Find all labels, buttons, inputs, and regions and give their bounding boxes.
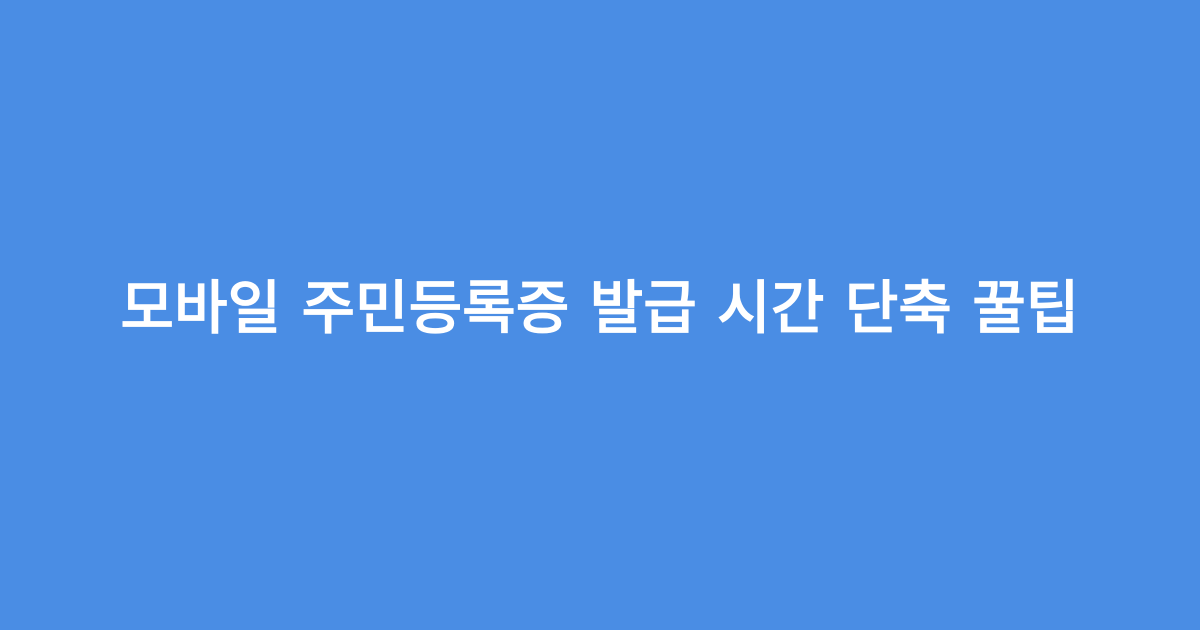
page-title: 모바일 주민등록증 발급 시간 단축 꿀팁 [121,267,1080,349]
og-card-content: 모바일 주민등록증 발급 시간 단축 꿀팁 [0,274,1200,356]
og-card: 모바일 주민등록증 발급 시간 단축 꿀팁 [0,0,1200,630]
